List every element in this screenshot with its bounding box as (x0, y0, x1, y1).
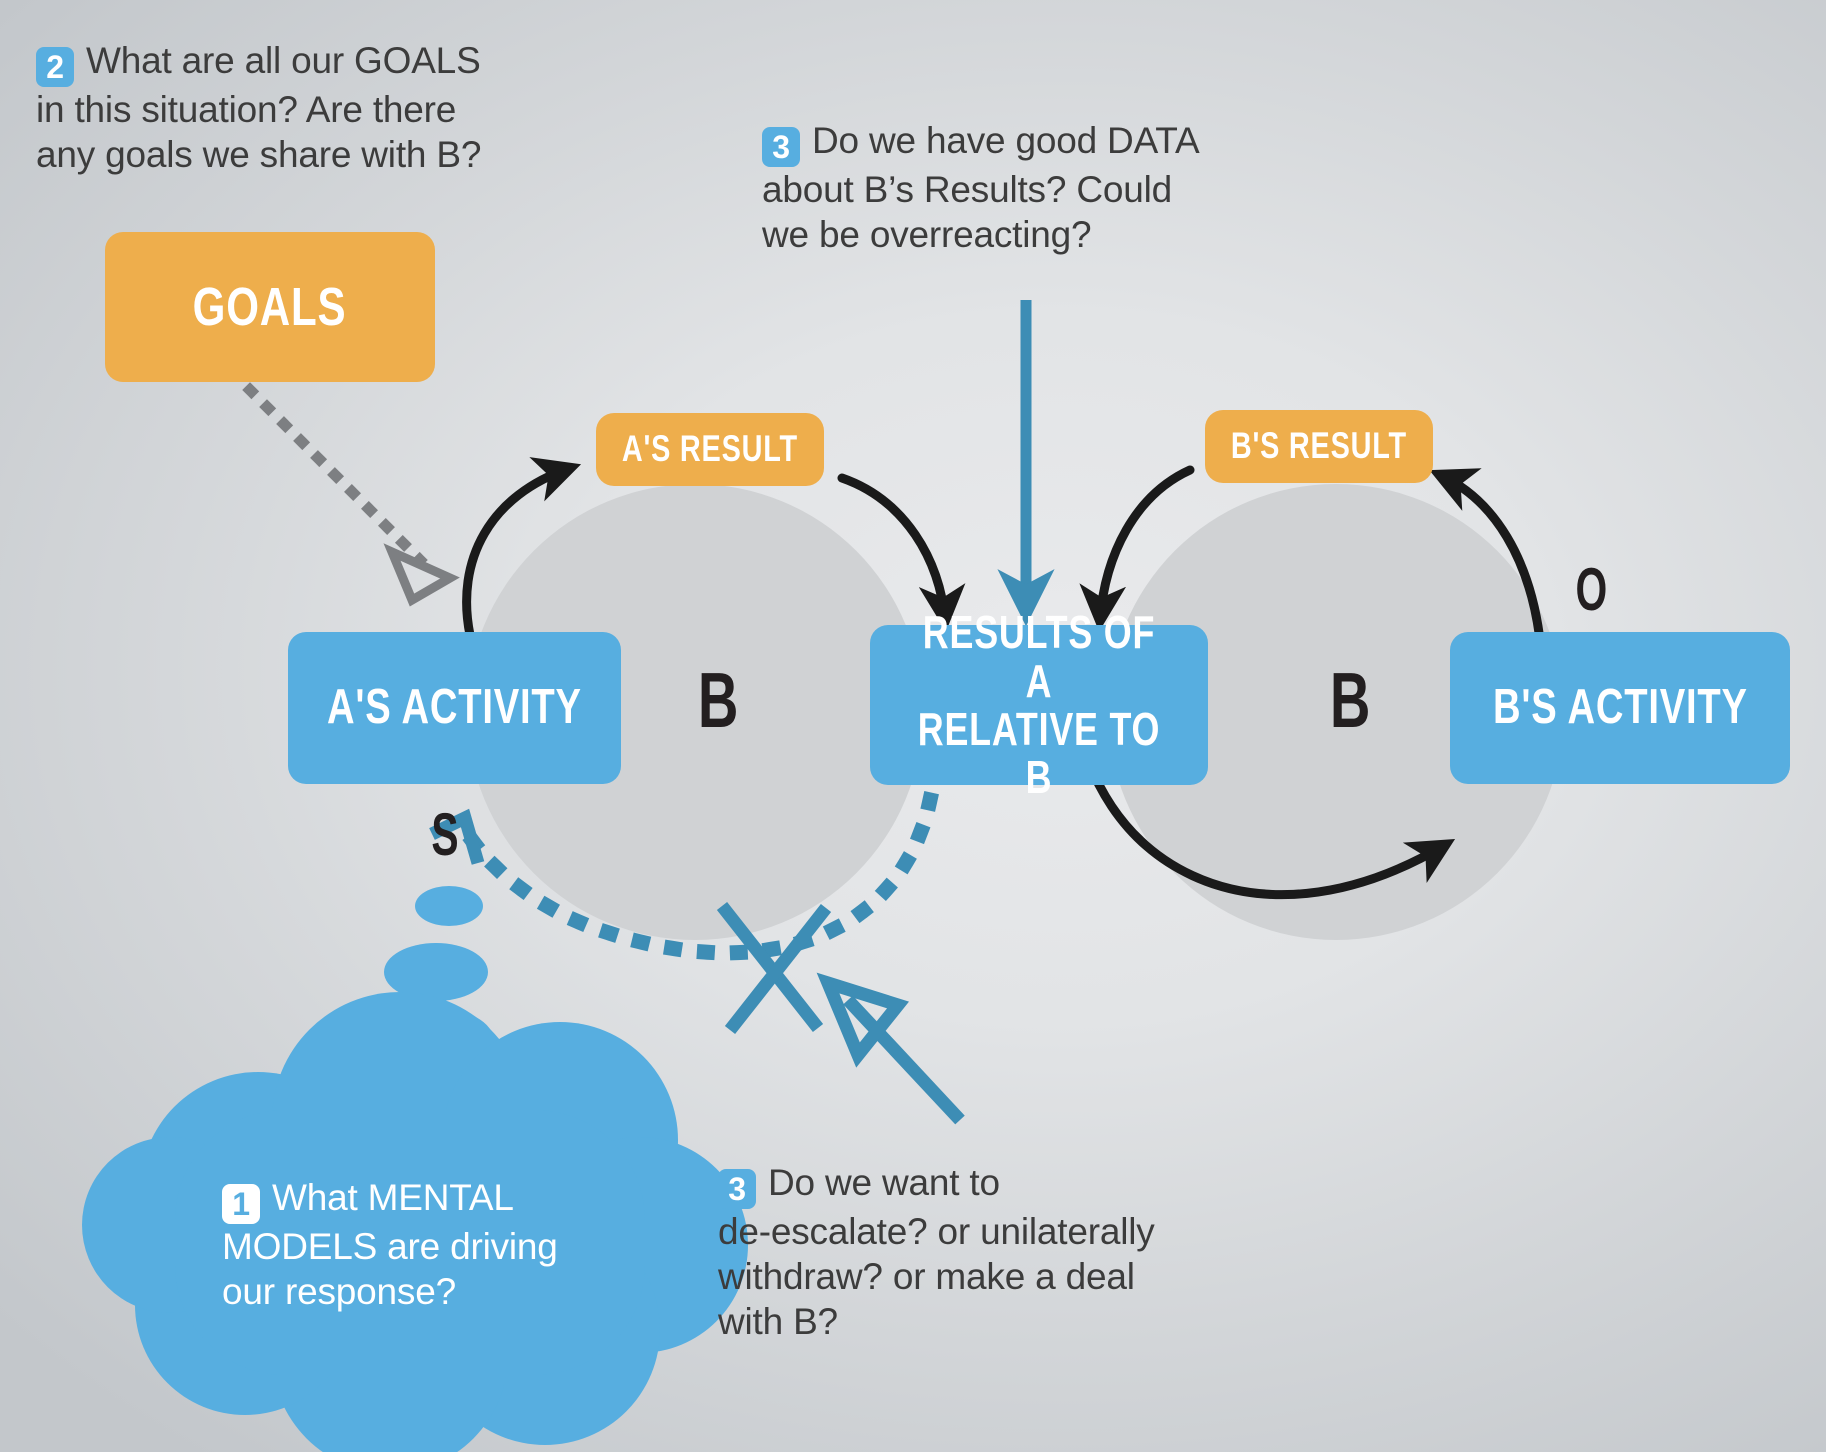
node-b-result-label: B'S RESULT (1231, 427, 1407, 466)
callout-badge-1: 1 (222, 1184, 260, 1224)
callout-data-line-2: about B’s Results? Could (762, 167, 1262, 212)
polarity-label-o: O (1575, 555, 1607, 624)
callout-goals-line-1: What are all our GOALS (86, 40, 481, 81)
callout-goals-question: 2What are all our GOALS in this situatio… (36, 38, 556, 177)
callout-deescalate-question: 3Do we want to de-escalate? or unilatera… (718, 1160, 1238, 1344)
callout-badge-3-deescalate: 3 (718, 1169, 756, 1209)
callout-data-line-1: Do we have good DATA (812, 120, 1199, 161)
node-b-activity-label: B'S ACTIVITY (1493, 682, 1748, 733)
callout-goals-line-3: any goals we share with B? (36, 132, 556, 177)
callout-mental-models-line-1: What MENTAL (272, 1177, 514, 1218)
callout-mental-models-line-3: our response? (222, 1269, 642, 1314)
loop-label-left: B (698, 655, 739, 746)
callout-goals-line-2: in this situation? Are there (36, 87, 556, 132)
callout-badge-3-data: 3 (762, 127, 800, 167)
callout-mental-models-line-2: MODELS are driving (222, 1224, 642, 1269)
callout-deescalate-line-2: de-escalate? or unilaterally (718, 1209, 1238, 1254)
callout-deescalate-line-4: with B? (718, 1299, 1238, 1344)
node-results-of-a-label: RESULTS OF A RELATIVE TO B (907, 608, 1171, 801)
node-results-of-a[interactable]: RESULTS OF A RELATIVE TO B (870, 625, 1208, 785)
callout-mental-models-question: 1What MENTAL MODELS are driving our resp… (222, 1175, 642, 1314)
callout-deescalate-line-3: withdraw? or make a deal (718, 1254, 1238, 1299)
polarity-label-s: S (431, 800, 458, 869)
diagram-canvas: GOALS A'S RESULT B'S RESULT A'S ACTIVITY… (0, 0, 1826, 1452)
node-a-result-label: A'S RESULT (622, 430, 798, 469)
node-a-activity-label: A'S ACTIVITY (327, 682, 582, 733)
arrow-goals-to-a-activity (250, 390, 420, 560)
node-goals-label: GOALS (193, 279, 347, 336)
callout-data-question: 3Do we have good DATA about B’s Results?… (762, 118, 1262, 257)
callout-data-line-3: we be overreacting? (762, 212, 1262, 257)
arrow-callout-to-break (848, 1000, 960, 1120)
node-a-activity[interactable]: A'S ACTIVITY (288, 632, 621, 784)
loop-label-right: B (1330, 655, 1371, 746)
thought-bubble-small (415, 886, 483, 926)
callout-badge-2: 2 (36, 47, 74, 87)
node-b-result[interactable]: B'S RESULT (1205, 410, 1433, 483)
node-a-result[interactable]: A'S RESULT (596, 413, 824, 486)
node-b-activity[interactable]: B'S ACTIVITY (1450, 632, 1790, 784)
node-goals[interactable]: GOALS (105, 232, 435, 382)
callout-deescalate-line-1: Do we want to (768, 1162, 1000, 1203)
